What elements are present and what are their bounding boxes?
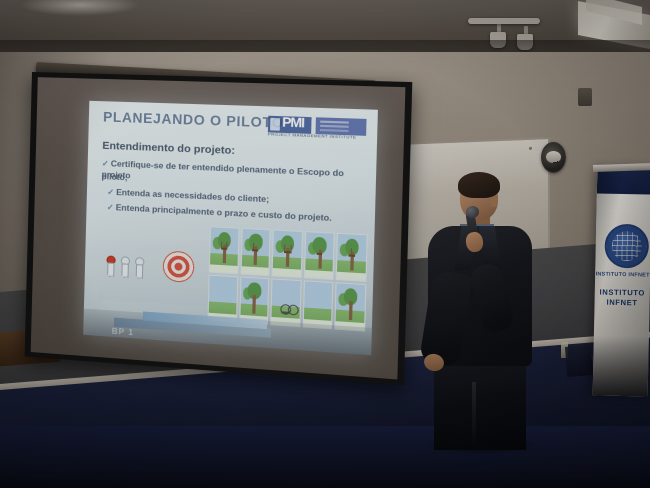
slide-image-grid (207, 226, 367, 331)
ceiling-light-glow (20, 0, 140, 16)
clipart-figure-2 (119, 256, 129, 283)
banner-bottom-shadow (593, 335, 649, 396)
check-icon: ✓ (107, 203, 114, 212)
stacked-chairs (565, 345, 593, 377)
slide-footer-text: BP 1 (112, 327, 134, 338)
projection-screen-surface: PLANEJANDO O PILOTO PMI PROJECT MANAGEME… (31, 77, 406, 379)
presentation-photo: PLANEJANDO O PILOTO PMI PROJECT MANAGEME… (0, 0, 650, 488)
pmi-logo-icon: PMI PROJECT MANAGEMENT INSTITUTE (268, 114, 369, 141)
grid-cell (304, 231, 335, 280)
grid-cell (209, 226, 239, 274)
grid-cell (270, 278, 301, 327)
slide-bullet-2-text: Entenda as necessidades do cliente; (116, 187, 269, 204)
slide-bullet-3: ✓Entenda principalmente o prazo e custo … (107, 202, 332, 224)
pmi-logo-bar-lines (320, 121, 349, 124)
clipart-figure-1 (105, 255, 115, 282)
clipart-reflection (98, 279, 212, 307)
pmi-logo-mark-inner (270, 118, 280, 131)
slide-subtitle: Entendimento do projeto: (102, 140, 235, 157)
grid-cell (335, 282, 367, 331)
clock-minute-hand (557, 161, 558, 167)
presenter-leg-seam (472, 382, 476, 448)
clipart-figure-3 (133, 257, 143, 284)
grid-cell (336, 233, 368, 282)
grid-cell (272, 229, 303, 278)
clock-face (546, 151, 561, 163)
slide-clipart-team-target (98, 221, 214, 307)
slide-bullet-1-text: Certifique-se de ter entendido plenament… (101, 158, 343, 180)
slide-bullet-3-text: Entenda principalmente o prazo e custo d… (116, 202, 332, 223)
pmi-logo-text: PMI (282, 114, 304, 131)
presenter-ear (490, 196, 498, 207)
check-icon: ✓ (102, 159, 109, 168)
projection-screen: PLANEJANDO O PILOTO PMI PROJECT MANAGEME… (25, 72, 413, 385)
slide: PLANEJANDO O PILOTO PMI PROJECT MANAGEME… (83, 101, 378, 355)
presenter (424, 176, 536, 444)
light-track-rail (468, 18, 540, 24)
presenter-trousers (434, 358, 526, 450)
slide-title: PLANEJANDO O PILOTO (103, 109, 284, 131)
wall-clock-icon (541, 142, 566, 173)
clipart-target-icon (162, 250, 194, 283)
grid-cell (302, 280, 333, 329)
wall-speaker-icon (578, 88, 592, 106)
grid-cell (240, 228, 271, 276)
slide-bullet-1: ✓Certifique-se de ter entendido plenamen… (101, 158, 367, 192)
roll-up-banner: INSTITUTO INFNET INSTITUTO INFNET (593, 167, 650, 396)
presenter-hair (458, 172, 500, 198)
check-icon: ✓ (107, 187, 114, 196)
floor-foreground (0, 426, 650, 488)
slide-bullet-1-continuation: piloto; (101, 171, 127, 183)
